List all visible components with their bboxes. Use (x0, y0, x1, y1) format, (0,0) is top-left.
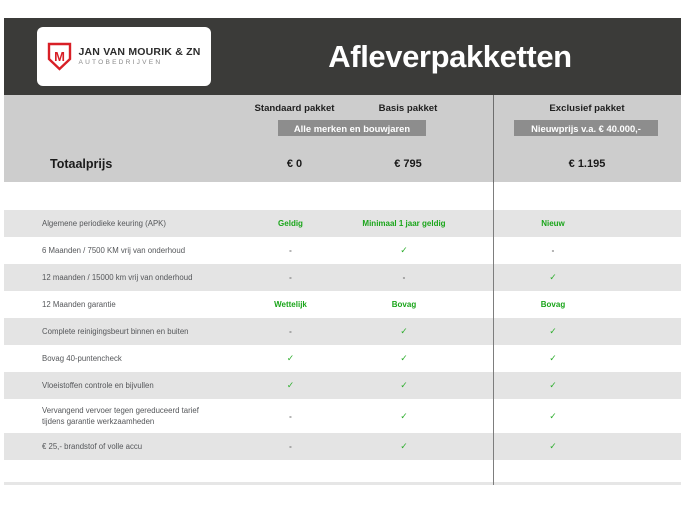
check-icon: ✓ (549, 272, 557, 282)
chip-nieuwprijs: Nieuwprijs v.a. € 40.000,- (514, 120, 658, 136)
value-text: Geldig (278, 219, 303, 228)
check-icon: ✓ (400, 245, 408, 255)
table-row: 6 Maanden / 7500 KM vrij van onderhoud-✓… (4, 237, 681, 264)
package-header-left: Standaard pakket Basis pakket Alle merke… (4, 95, 492, 182)
dash-icon: - (552, 246, 555, 255)
dash-icon: - (289, 412, 292, 421)
table-row: Vloeistoffen controle en bijvullen✓✓✓ (4, 372, 681, 399)
check-icon: ✓ (400, 326, 408, 336)
cell-std: Geldig (232, 219, 349, 228)
cell-bas: ✓ (349, 353, 459, 364)
cell-exc: ✓ (459, 380, 647, 391)
check-icon: ✓ (549, 380, 557, 390)
total-price-basis: € 795 (353, 158, 463, 170)
cell-exc: ✓ (459, 272, 647, 283)
row-label: 12 maanden / 15000 km vrij van onderhoud (4, 272, 232, 283)
row-label: Bovag 40-puntencheck (4, 353, 232, 364)
row-label: Vervangend vervoer tegen gereduceerd tar… (4, 405, 232, 428)
cell-std: - (232, 273, 349, 282)
value-text: Minimaal 1 jaar geldig (362, 219, 445, 228)
row-label: € 25,- brandstof of volle accu (4, 441, 232, 452)
svg-text:M: M (55, 49, 66, 64)
table-row: Algemene periodieke keuring (APK)GeldigM… (4, 210, 681, 237)
total-price-exclusief: € 1.195 (493, 158, 681, 170)
cell-exc: Bovag (459, 300, 647, 309)
cell-bas: ✓ (349, 380, 459, 391)
value-text: Bovag (541, 300, 565, 309)
table-row: Complete reinigingsbeurt binnen en buite… (4, 318, 681, 345)
package-header-band: Standaard pakket Basis pakket Alle merke… (4, 95, 681, 182)
check-icon: ✓ (549, 441, 557, 451)
cell-std: - (232, 246, 349, 255)
feature-comparison-table: Algemene periodieke keuring (APK)GeldigM… (4, 183, 681, 485)
row-label: Algemene periodieke keuring (APK) (4, 218, 232, 229)
value-text: Wettelijk (274, 300, 307, 309)
page-header: M JAN VAN MOURIK & ZN AUTOBEDRIJVEN Afle… (4, 18, 681, 95)
table-top-spacer (4, 183, 681, 210)
package-header-right: Exclusief pakket Nieuwprijs v.a. € 40.00… (493, 95, 681, 182)
row-label: Vloeistoffen controle en bijvullen (4, 380, 232, 391)
check-icon: ✓ (549, 353, 557, 363)
cell-exc: ✓ (459, 326, 647, 337)
dash-icon: - (403, 273, 406, 282)
afleverpakketten-page: M JAN VAN MOURIK & ZN AUTOBEDRIJVEN Afle… (0, 0, 685, 514)
check-icon: ✓ (549, 411, 557, 421)
cell-std: - (232, 442, 349, 451)
cell-bas: ✓ (349, 441, 459, 452)
package-title-standaard: Standaard pakket (236, 103, 353, 114)
cell-std: - (232, 412, 349, 421)
cell-std: ✓ (232, 353, 349, 364)
total-price-label: Totaalprijs (50, 157, 112, 171)
cell-std: - (232, 327, 349, 336)
row-label: 6 Maanden / 7500 KM vrij van onderhoud (4, 245, 232, 256)
table-row: 12 Maanden garantieWettelijkBovagBovag (4, 291, 681, 318)
value-text: Bovag (392, 300, 416, 309)
package-title-basis: Basis pakket (353, 103, 463, 114)
cell-bas: Minimaal 1 jaar geldig (349, 219, 459, 228)
cell-bas: ✓ (349, 411, 459, 422)
check-icon: ✓ (549, 326, 557, 336)
check-icon: ✓ (287, 353, 295, 363)
cell-exc: ✓ (459, 411, 647, 422)
table-bottom-spacer (4, 460, 681, 482)
package-titles-group: Standaard pakket Basis pakket (236, 103, 492, 114)
cell-exc: - (459, 246, 647, 255)
check-icon: ✓ (400, 441, 408, 451)
table-row: 12 maanden / 15000 km vrij van onderhoud… (4, 264, 681, 291)
table-row: Vervangend vervoer tegen gereduceerd tar… (4, 399, 681, 433)
row-label: 12 Maanden garantie (4, 299, 232, 310)
cell-bas: Bovag (349, 300, 459, 309)
cell-exc: Nieuw (459, 219, 647, 228)
dash-icon: - (289, 273, 292, 282)
page-title: Afleverpakketten (219, 18, 681, 95)
company-logo: M JAN VAN MOURIK & ZN AUTOBEDRIJVEN (37, 27, 211, 86)
dash-icon: - (289, 327, 292, 336)
package-title-exclusief: Exclusief pakket (493, 103, 681, 114)
cell-bas: - (349, 273, 459, 282)
cell-bas: ✓ (349, 326, 459, 337)
column-divider-lower (493, 183, 494, 485)
check-icon: ✓ (400, 380, 408, 390)
shield-logo-icon: M (47, 42, 72, 71)
cell-std: ✓ (232, 380, 349, 391)
cell-exc: ✓ (459, 441, 647, 452)
logo-subtitle: AUTOBEDRIJVEN (78, 60, 200, 67)
check-icon: ✓ (287, 380, 295, 390)
check-icon: ✓ (400, 411, 408, 421)
logo-company-name: JAN VAN MOURIK & ZN (78, 47, 200, 58)
row-label: Complete reinigingsbeurt binnen en buite… (4, 326, 232, 337)
chip-alle-merken: Alle merken en bouwjaren (278, 120, 426, 136)
dash-icon: - (289, 246, 292, 255)
cell-std: Wettelijk (232, 300, 349, 309)
table-row: € 25,- brandstof of volle accu-✓✓ (4, 433, 681, 460)
table-row: Bovag 40-puntencheck✓✓✓ (4, 345, 681, 372)
total-price-standaard: € 0 (236, 158, 353, 170)
dash-icon: - (289, 442, 292, 451)
value-text: Nieuw (541, 219, 565, 228)
cell-bas: ✓ (349, 245, 459, 256)
cell-exc: ✓ (459, 353, 647, 364)
check-icon: ✓ (400, 353, 408, 363)
